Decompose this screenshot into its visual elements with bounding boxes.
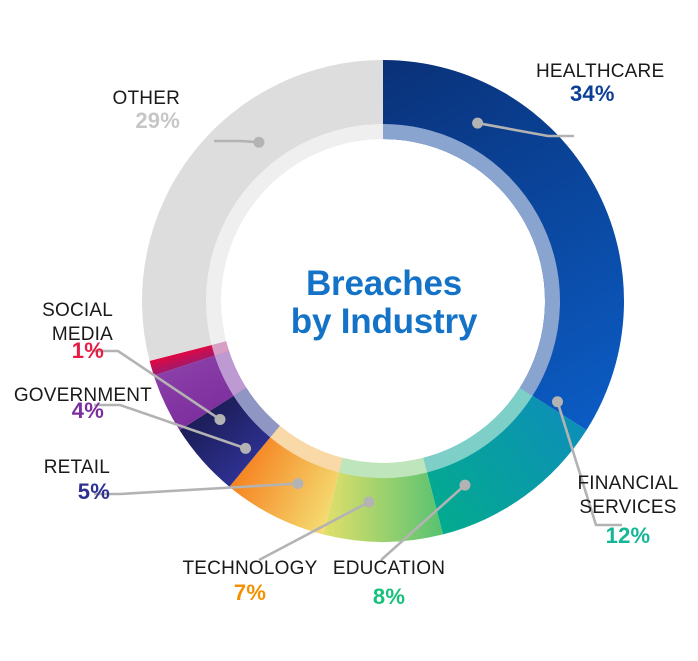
leader-dot-retail bbox=[292, 478, 303, 489]
slice-label-name-healthcare: HEALTHCARE bbox=[536, 61, 664, 82]
donut-slice-inner-band-education bbox=[339, 458, 427, 478]
slice-label-percent-other: 29% bbox=[135, 108, 180, 133]
leader-dot-education bbox=[459, 480, 470, 491]
slice-label-percent-retail: 5% bbox=[78, 479, 110, 504]
slice-label-name-technology: TECHNOLOGY bbox=[182, 558, 317, 579]
donut-chart: HEALTHCARE34%FINANCIALSERVICES12%EDUCATI… bbox=[0, 0, 698, 661]
donut-chart-svg: HEALTHCARE34%FINANCIALSERVICES12%EDUCATI… bbox=[0, 0, 698, 661]
leader-dot-financial-services bbox=[552, 396, 563, 407]
slice-label-percent-healthcare: 34% bbox=[570, 81, 615, 106]
slice-label-name-social-media: SOCIAL bbox=[42, 300, 113, 321]
leader-dot-social-media bbox=[214, 414, 225, 425]
slice-label-name-education: EDUCATION bbox=[333, 558, 445, 579]
leader-line-other bbox=[214, 141, 259, 142]
donut-slice-healthcare[interactable] bbox=[383, 60, 624, 430]
leader-dot-healthcare bbox=[472, 118, 483, 129]
leader-dot-other bbox=[253, 137, 264, 148]
leader-dot-technology bbox=[363, 497, 374, 508]
slice-label-percent-financial-services: 12% bbox=[606, 523, 651, 548]
slice-label-name-financial-services: FINANCIAL bbox=[577, 473, 678, 494]
slice-label-percent-government: 4% bbox=[72, 398, 104, 423]
slice-label-name-financial-services: SERVICES bbox=[579, 497, 676, 518]
chart-center-title-line2: by Industry bbox=[291, 302, 478, 341]
slice-label-percent-education: 8% bbox=[373, 584, 405, 609]
slice-label-percent-technology: 7% bbox=[234, 580, 266, 605]
chart-center-title-line1: Breaches bbox=[306, 264, 462, 303]
slice-label-name-retail: RETAIL bbox=[44, 457, 110, 478]
leader-dot-government bbox=[240, 443, 251, 454]
slice-label-percent-social-media: 1% bbox=[72, 338, 104, 363]
slice-label-name-other: OTHER bbox=[113, 88, 181, 109]
